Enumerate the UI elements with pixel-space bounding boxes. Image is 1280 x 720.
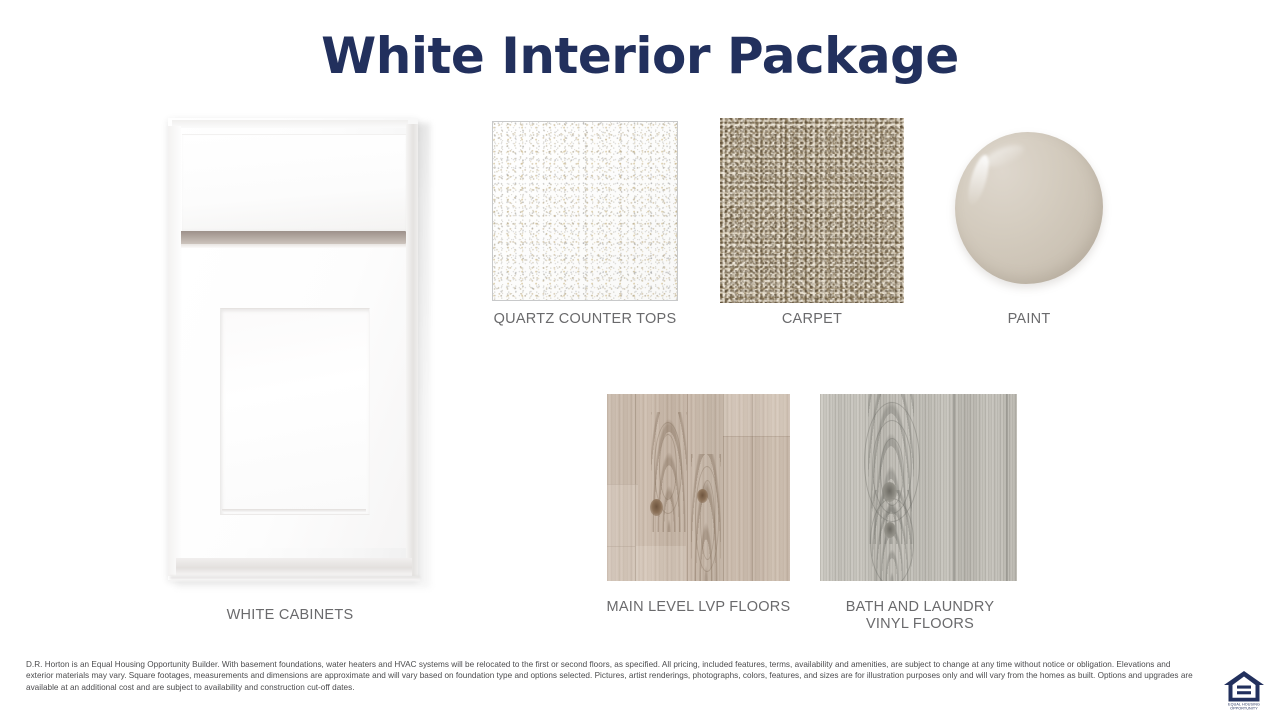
vinyl-plank-seam <box>1006 394 1008 581</box>
vinyl-wood-knot <box>882 482 897 502</box>
lvp-plank-tone <box>607 484 638 581</box>
page-title: White Interior Package <box>0 27 1280 85</box>
label-paint: PAINT <box>955 311 1103 328</box>
cabinet-bottom-rail <box>176 558 412 576</box>
lvp-plank-tone <box>636 546 686 581</box>
label-line-1: BATH AND LAUNDRY <box>830 599 1010 616</box>
eho-text-line-2: OPPORTUNITY <box>1230 706 1258 710</box>
swatch-paint <box>955 132 1103 284</box>
vinyl-grain-ring <box>870 498 914 581</box>
vinyl-plank-seam <box>953 394 955 581</box>
lvp-wood-knot <box>650 499 663 516</box>
lvp-plank-seam <box>687 394 688 581</box>
label-bath-and-laundry-vinyl-floors: BATH AND LAUNDRY VINYL FLOORS <box>830 599 1010 633</box>
paint-gloss-secondary <box>982 141 1027 172</box>
label-white-cabinets: WHITE CABINETS <box>170 607 410 624</box>
swatch-main-level-lvp-floors <box>607 394 790 581</box>
cabinet-panel-bottom-shadow <box>222 509 366 512</box>
equal-housing-opportunity-logo: EQUAL HOUSING OPPORTUNITY <box>1222 668 1266 710</box>
swatch-carpet <box>720 118 904 303</box>
label-quartz-counter-tops: QUARTZ COUNTER TOPS <box>492 311 678 328</box>
label-carpet: CARPET <box>720 311 904 328</box>
swatch-white-cabinets <box>168 118 430 588</box>
cabinet-drawer-front <box>182 134 406 231</box>
swatch-quartz-counter-tops <box>492 121 678 301</box>
cabinet-base-shadow <box>170 576 420 581</box>
label-line-2: VINYL FLOORS <box>830 616 1010 633</box>
legal-disclaimer: D.R. Horton is an Equal Housing Opportun… <box>26 659 1198 693</box>
cabinet-body <box>168 118 418 580</box>
label-main-level-lvp-floors: MAIN LEVEL LVP FLOORS <box>580 599 817 616</box>
vinyl-base-texture <box>820 394 1017 581</box>
lvp-plank-tone <box>723 394 790 436</box>
lvp-plank-butt-joint <box>723 436 790 437</box>
vinyl-wood-knot <box>884 522 896 538</box>
cabinet-right-edge <box>406 124 418 576</box>
lvp-wood-knot <box>697 489 708 503</box>
cabinet-shadow-gap <box>178 231 406 244</box>
cabinet-recessed-panel <box>220 308 370 515</box>
cabinet-left-stile <box>168 126 181 576</box>
lvp-grain-ring <box>659 434 677 500</box>
swatch-bath-and-laundry-vinyl-floors <box>820 394 1017 581</box>
cabinet-top-rail <box>172 120 408 128</box>
